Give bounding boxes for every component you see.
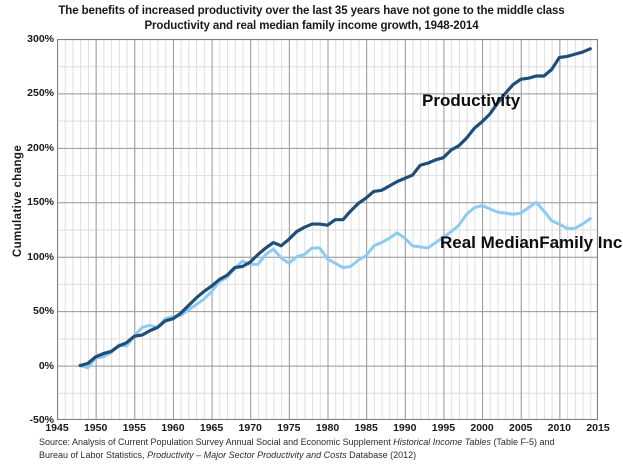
y-tick-50pct: 50% [2,305,54,317]
y-tick-0pct: 0% [2,360,54,372]
x-tick-1970: 1970 [230,422,270,434]
x-tick-1955: 1955 [114,422,154,434]
y-axis-tick-labels: 300%250%200%150%100%50%0%-50% [0,39,54,420]
chart-subtitle: Productivity and real median family inco… [0,19,623,34]
source-line1-b: (Table F-5) and [491,437,555,447]
x-tick-2015: 2015 [578,422,618,434]
x-tick-1985: 1985 [346,422,386,434]
x-tick-1965: 1965 [192,422,232,434]
x-tick-1960: 1960 [153,422,193,434]
source-line1-italic: Historical Income Tables [393,437,491,447]
x-tick-1975: 1975 [269,422,309,434]
title-block: The benefits of increased productivity o… [0,4,623,34]
source-line1-a: Source: Analysis of Current Population S… [39,437,393,447]
income-series-label-line1: Real Median [440,233,539,252]
x-tick-1950: 1950 [76,422,116,434]
productivity-series-label: Productivity [422,91,520,111]
x-tick-1990: 1990 [385,422,425,434]
income-series-label-line2: Family Income [539,233,623,252]
y-tick-150pct: 150% [2,196,54,208]
source-line2-a: Bureau of Labor Statistics, [39,450,147,460]
y-tick-200pct: 200% [2,142,54,154]
productivity-income-chart: The benefits of increased productivity o… [0,0,623,467]
x-tick-1945: 1945 [37,422,77,434]
source-note: Source: Analysis of Current Population S… [39,436,619,461]
source-line2-italic: Productivity – Major Sector Productivity… [147,450,347,460]
x-tick-1980: 1980 [308,422,348,434]
y-tick-300pct: 300% [2,33,54,45]
x-tick-2000: 2000 [462,422,502,434]
source-note-line-1: Source: Analysis of Current Population S… [39,436,619,449]
x-tick-1995: 1995 [423,422,463,434]
income-series-label: Real MedianFamily Income [440,233,623,253]
source-line2-b: Database (2012) [347,450,417,460]
y-tick-250pct: 250% [2,87,54,99]
y-tick-100pct: 100% [2,251,54,263]
x-tick-2010: 2010 [539,422,579,434]
x-tick-2005: 2005 [501,422,541,434]
page-title: The benefits of increased productivity o… [0,4,623,19]
source-note-line-2: Bureau of Labor Statistics, Productivity… [39,449,619,462]
